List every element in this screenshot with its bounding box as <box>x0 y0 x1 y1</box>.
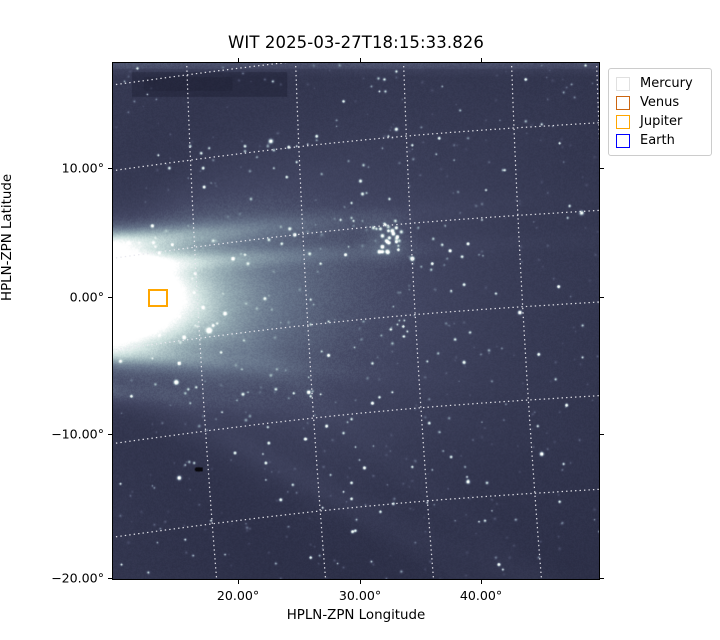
right-y-tick-mark <box>600 578 604 579</box>
legend-item-venus[interactable]: Venus <box>616 93 705 112</box>
legend-swatch-jupiter-icon <box>616 115 630 129</box>
figure-canvas: WIT 2025-03-27T18:15:33.826 10.00°0.00°−… <box>0 0 720 640</box>
bottom-x-tick-mark <box>238 580 239 584</box>
planet-marker-jupiter[interactable] <box>148 289 168 307</box>
left-y-tick-mark <box>108 434 112 435</box>
x-tick-label: 30.00° <box>339 588 381 603</box>
legend-item-jupiter[interactable]: Jupiter <box>616 112 705 131</box>
right-y-tick-mark <box>600 168 604 169</box>
legend-swatch-mercury-icon <box>616 77 630 91</box>
legend-item-mercury[interactable]: Mercury <box>616 74 705 93</box>
left-y-tick-mark <box>108 297 112 298</box>
y-tick-label: 0.00° <box>34 290 104 305</box>
legend-item-earth[interactable]: Earth <box>616 131 705 150</box>
bottom-x-tick-mark <box>481 580 482 584</box>
right-y-tick-mark <box>600 297 604 298</box>
x-tick-label: 40.00° <box>460 588 502 603</box>
y-tick-label: −10.00° <box>34 427 104 442</box>
y-tick-label: 10.00° <box>34 161 104 176</box>
legend-label: Earth <box>640 134 675 147</box>
legend: MercuryVenusJupiterEarth <box>608 68 712 156</box>
legend-label: Jupiter <box>640 115 682 128</box>
plot-axes[interactable] <box>112 62 600 580</box>
bottom-x-tick-mark <box>360 580 361 584</box>
legend-label: Venus <box>640 96 679 109</box>
legend-swatch-earth-icon <box>616 134 630 148</box>
legend-swatch-venus-icon <box>616 96 630 110</box>
page-title: WIT 2025-03-27T18:15:33.826 <box>112 33 600 52</box>
coronagraph-image <box>113 63 599 579</box>
right-y-tick-mark <box>600 434 604 435</box>
y-tick-label: −20.00° <box>34 571 104 586</box>
x-axis-label: HPLN-ZPN Longitude <box>112 608 600 623</box>
top-x-tick-mark <box>481 58 482 62</box>
top-x-tick-mark <box>238 58 239 62</box>
legend-label: Mercury <box>640 77 693 90</box>
x-tick-label: 20.00° <box>217 588 259 603</box>
top-x-tick-mark <box>360 58 361 62</box>
left-y-tick-mark <box>108 168 112 169</box>
left-y-tick-mark <box>108 578 112 579</box>
